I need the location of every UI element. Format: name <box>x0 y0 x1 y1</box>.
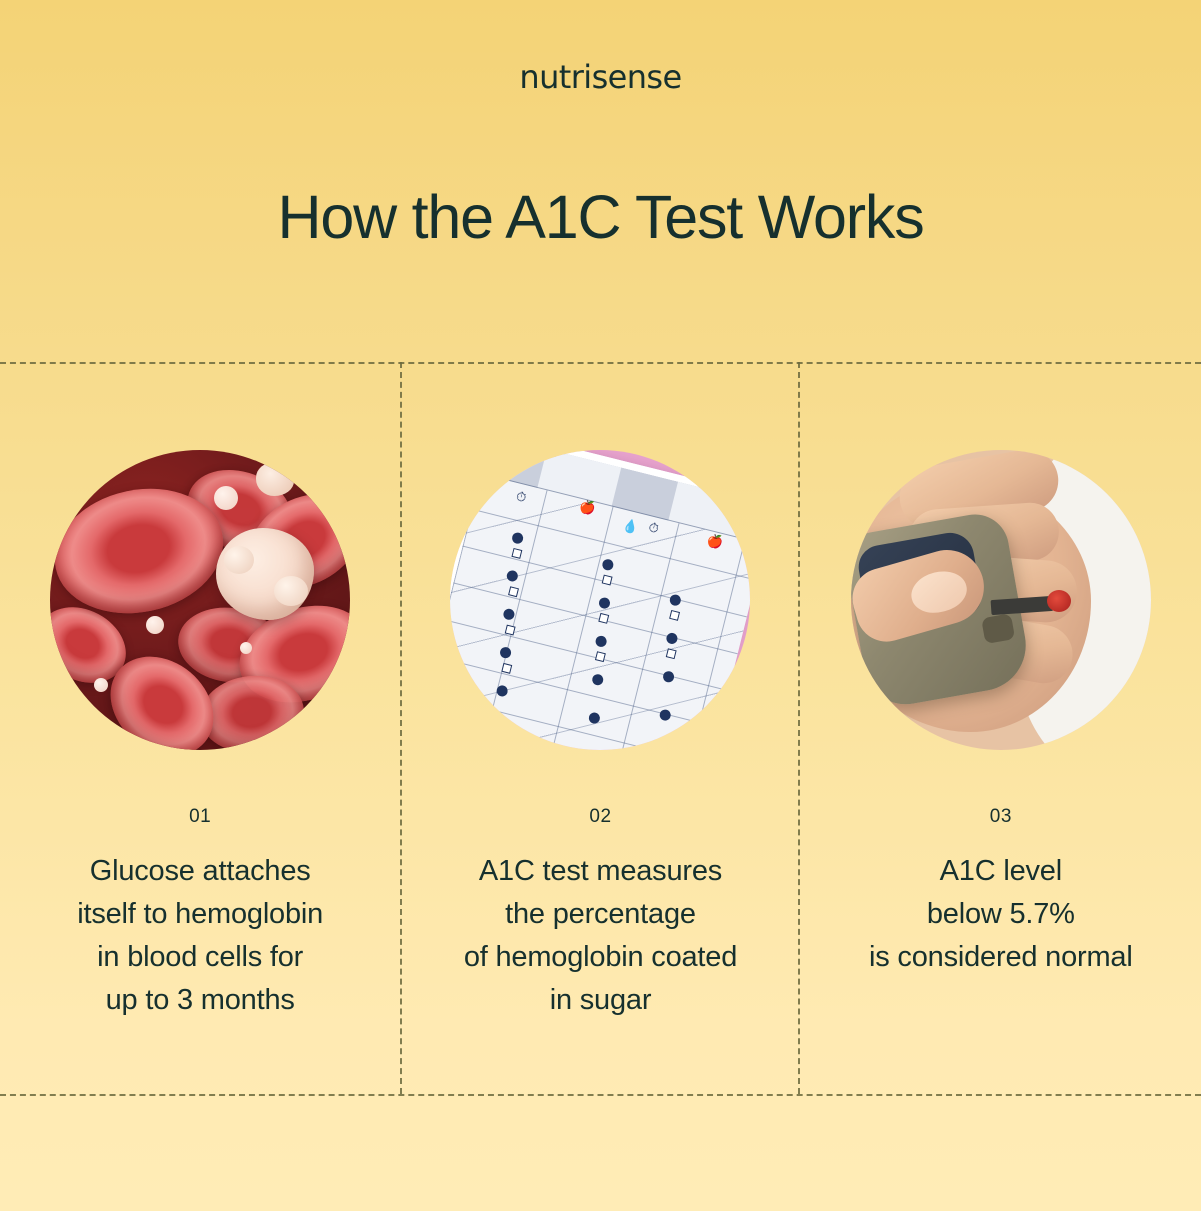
divider-horizontal-bottom <box>0 1094 1201 1096</box>
step-description: Glucose attaches itself to hemoglobin in… <box>71 850 329 1022</box>
blood-sugar-logbook-image: ⏱ 🍎 💧 ⏱ 🍎 <box>450 450 750 750</box>
step-description: A1C test measures the percentage of hemo… <box>458 850 743 1022</box>
glucose-meter-image <box>851 450 1151 750</box>
platelet-icon <box>214 486 238 510</box>
brand-logo: nutrisense <box>0 58 1201 96</box>
step-card-01: 01 Glucose attaches itself to hemoglobin… <box>0 362 400 1094</box>
step-number: 01 <box>189 806 211 828</box>
white-blood-cell-icon <box>216 528 314 620</box>
meter-strip-port <box>981 613 1015 644</box>
step-description: A1C level below 5.7% is considered norma… <box>863 850 1139 979</box>
red-blood-cells-image <box>50 450 350 750</box>
step-number: 03 <box>990 806 1012 828</box>
step-card-02: ⏱ 🍎 💧 ⏱ 🍎 <box>400 362 800 1094</box>
white-blood-cell-icon <box>256 462 294 496</box>
infographic-canvas: nutrisense How the A1C Test Works <box>0 0 1201 1211</box>
steps-row: 01 Glucose attaches itself to hemoglobin… <box>0 362 1201 1094</box>
step-card-03: 03 A1C level below 5.7% is considered no… <box>801 362 1201 1094</box>
blood-drop-icon <box>1047 590 1071 612</box>
page-title: How the A1C Test Works <box>0 185 1201 249</box>
step-number: 02 <box>589 806 611 828</box>
logbook-sheet: ⏱ 🍎 💧 ⏱ 🍎 <box>450 450 750 750</box>
